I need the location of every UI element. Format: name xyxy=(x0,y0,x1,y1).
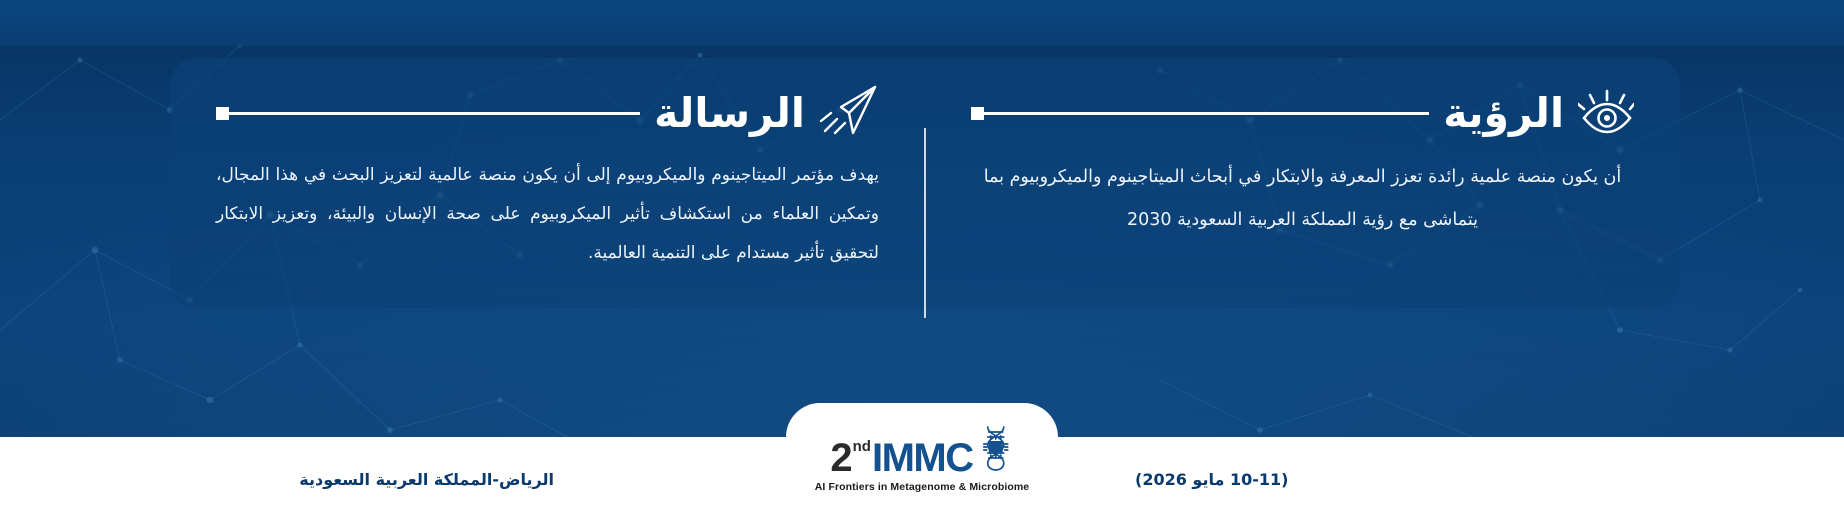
vision-mission-panel: الرؤية أن يكون منصة علمية رائدة تعزز الم… xyxy=(170,58,1680,308)
vision-body: أن يكون منصة علمية رائدة تعزز المعرفة وا… xyxy=(971,156,1634,242)
dna-chip-icon: AI xyxy=(978,425,1014,475)
logo-wordmark-row: 2 nd IMMC AI xyxy=(830,425,1013,476)
eye-icon xyxy=(1578,88,1634,138)
logo-tagline: AI Frontiers in Metagenome & Microbiome xyxy=(815,481,1030,493)
vision-rule-line xyxy=(984,112,1429,115)
vision-rule xyxy=(971,107,1429,120)
logo-name: IMMC xyxy=(872,440,973,476)
mission-rule-line xyxy=(229,112,640,115)
footer-location: الرياض-المملكة العربية السعودية xyxy=(299,470,554,489)
mission-rule xyxy=(216,107,640,120)
logo-edition-ordinal: nd xyxy=(853,439,871,454)
paper-plane-icon xyxy=(819,83,879,143)
footer: 2 nd IMMC AI AI Frontiers in Metagenome … xyxy=(0,403,1844,515)
mission-heading-row: الرسالة xyxy=(216,84,879,142)
background-top-band xyxy=(0,0,1844,46)
mission-section: الرسالة يهدف مؤتمر الميتاجينوم والميكروب… xyxy=(170,58,925,308)
mission-body: يهدف مؤتمر الميتاجينوم والميكروبيوم إلى … xyxy=(216,156,879,273)
svg-text:AI: AI xyxy=(993,446,999,452)
vision-heading-row: الرؤية xyxy=(971,84,1634,142)
vision-section: الرؤية أن يكون منصة علمية رائدة تعزز الم… xyxy=(925,58,1680,308)
mission-heading: الرسالة xyxy=(654,93,805,134)
vision-rule-square xyxy=(971,107,984,120)
vision-heading: الرؤية xyxy=(1443,93,1564,134)
mission-rule-square xyxy=(216,107,229,120)
logo-edition-number: 2 xyxy=(830,440,851,476)
immc-logo[interactable]: 2 nd IMMC AI AI Frontiers in Metagenome … xyxy=(815,425,1030,493)
footer-date: (10-11 مايو 2026) xyxy=(1135,470,1288,489)
